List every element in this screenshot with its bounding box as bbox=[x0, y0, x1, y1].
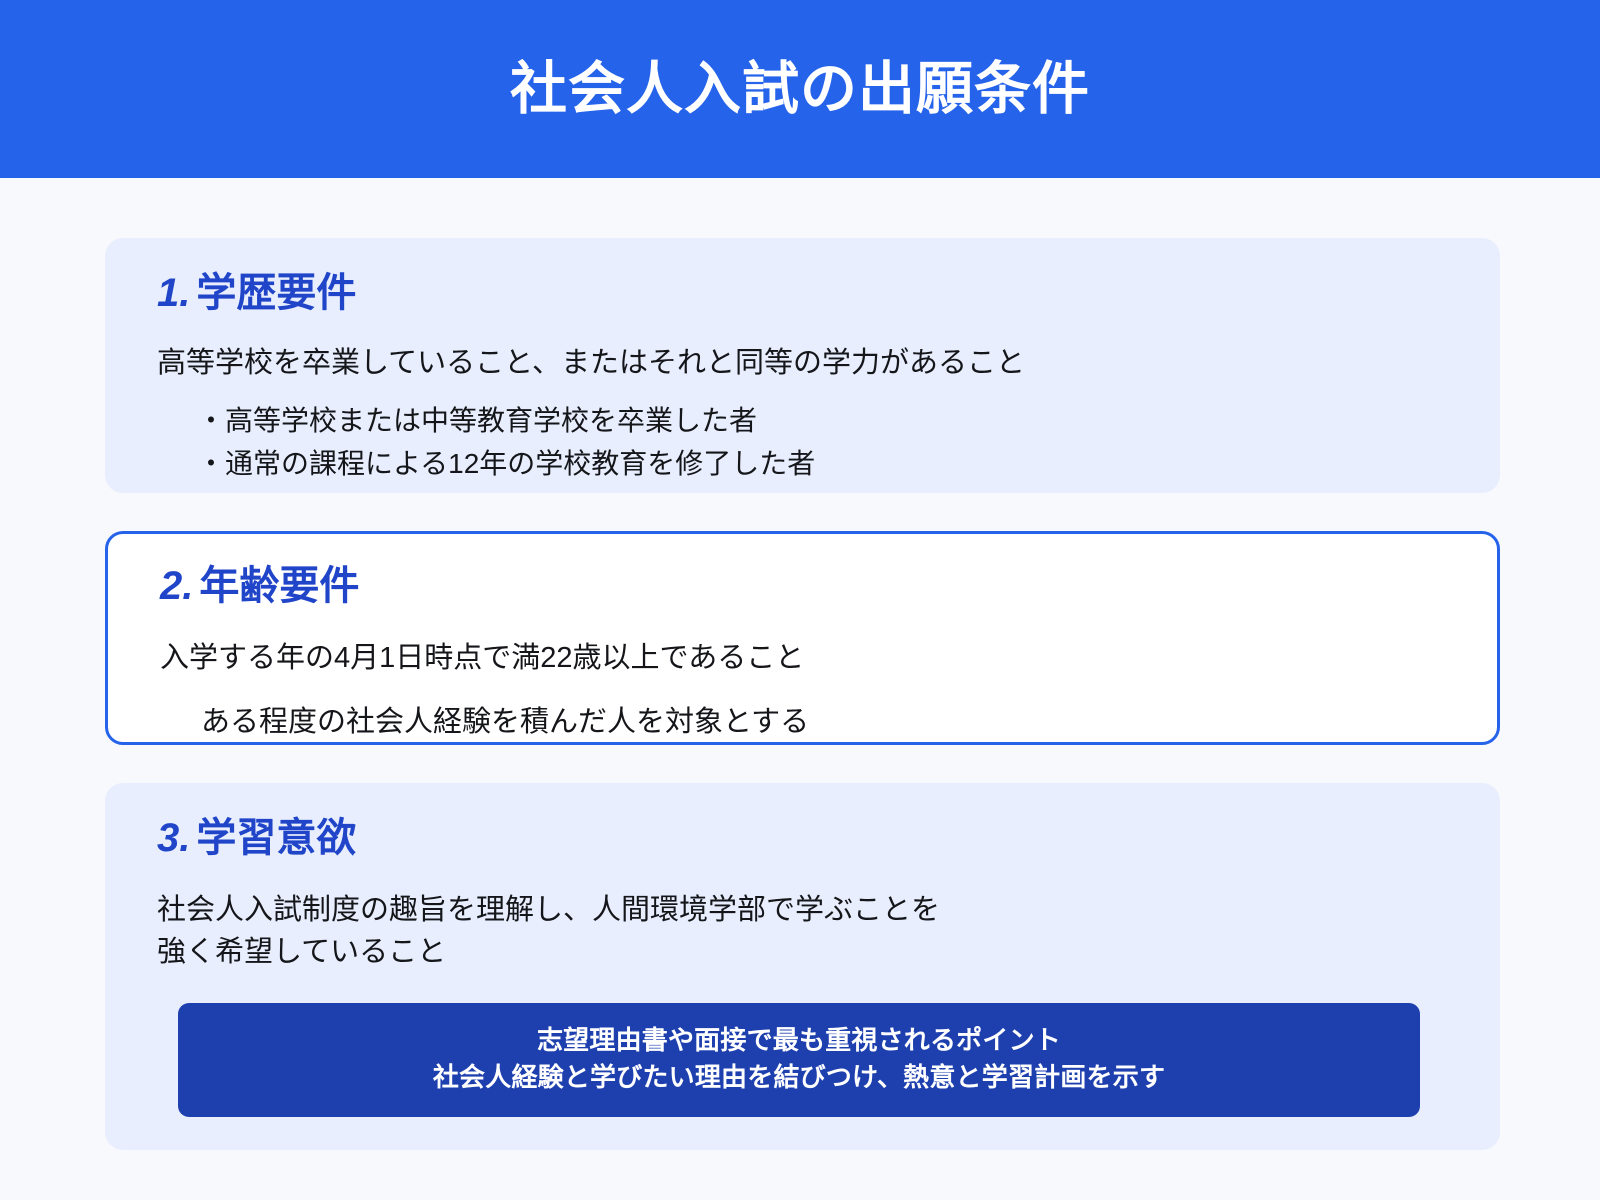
requirement-2-body: 入学する年の4月1日時点で満22歳以上であること bbox=[108, 637, 1497, 679]
requirement-1-title: 学歴要件 bbox=[196, 271, 356, 315]
callout-line-1: 志望理由書や面接で最も重視されるポイント bbox=[198, 1022, 1400, 1059]
list-item: ・高等学校または中等教育学校を卒業した者 bbox=[197, 400, 1500, 443]
requirement-card-2[interactable]: 2.年齢要件 入学する年の4月1日時点で満22歳以上であること ある程度の社会人… bbox=[105, 531, 1500, 745]
requirement-3-number: 3. bbox=[157, 816, 190, 860]
requirement-2-subnote: ある程度の社会人経験を積んだ人を対象とする bbox=[108, 701, 1497, 743]
requirement-card-1[interactable]: 1.学歴要件 高等学校を卒業していること、またはそれと同等の学力があること ・高… bbox=[105, 238, 1500, 493]
requirement-3-body-line-2: 強く希望していること bbox=[157, 931, 1500, 973]
requirement-1-number: 1. bbox=[157, 271, 190, 315]
requirement-1-bullets: ・高等学校または中等教育学校を卒業した者 ・通常の課程による12年の学校教育を修… bbox=[105, 400, 1500, 485]
page-header: 社会人入試の出願条件 bbox=[0, 0, 1600, 178]
list-item: ・通常の課程による12年の学校教育を修了した者 bbox=[197, 443, 1500, 486]
requirement-3-title: 学習意欲 bbox=[196, 816, 356, 860]
callout-line-2: 社会人経験と学びたい理由を結びつけ、熱意と学習計画を示す bbox=[198, 1059, 1400, 1096]
requirement-card-3[interactable]: 3.学習意欲 社会人入試制度の趣旨を理解し、人間環境学部で学ぶことを 強く希望し… bbox=[105, 783, 1500, 1150]
page-title: 社会人入試の出願条件 bbox=[510, 58, 1090, 121]
requirement-1-heading: 1.学歴要件 bbox=[105, 268, 1500, 318]
requirement-3-body-line-1: 社会人入試制度の趣旨を理解し、人間環境学部で学ぶことを bbox=[157, 889, 1500, 931]
key-point-callout: 志望理由書や面接で最も重視されるポイント 社会人経験と学びたい理由を結びつけ、熱… bbox=[178, 1003, 1420, 1117]
requirement-2-number: 2. bbox=[160, 564, 193, 608]
requirement-3-heading: 3.学習意欲 bbox=[105, 813, 1500, 863]
requirement-3-body: 社会人入試制度の趣旨を理解し、人間環境学部で学ぶことを 強く希望していること bbox=[105, 889, 1500, 973]
requirement-2-heading: 2.年齢要件 bbox=[108, 561, 1497, 611]
requirement-1-body: 高等学校を卒業していること、またはそれと同等の学力があること bbox=[105, 342, 1500, 384]
requirements-list: 1.学歴要件 高等学校を卒業していること、またはそれと同等の学力があること ・高… bbox=[0, 178, 1600, 1150]
requirement-2-title: 年齢要件 bbox=[199, 564, 359, 608]
